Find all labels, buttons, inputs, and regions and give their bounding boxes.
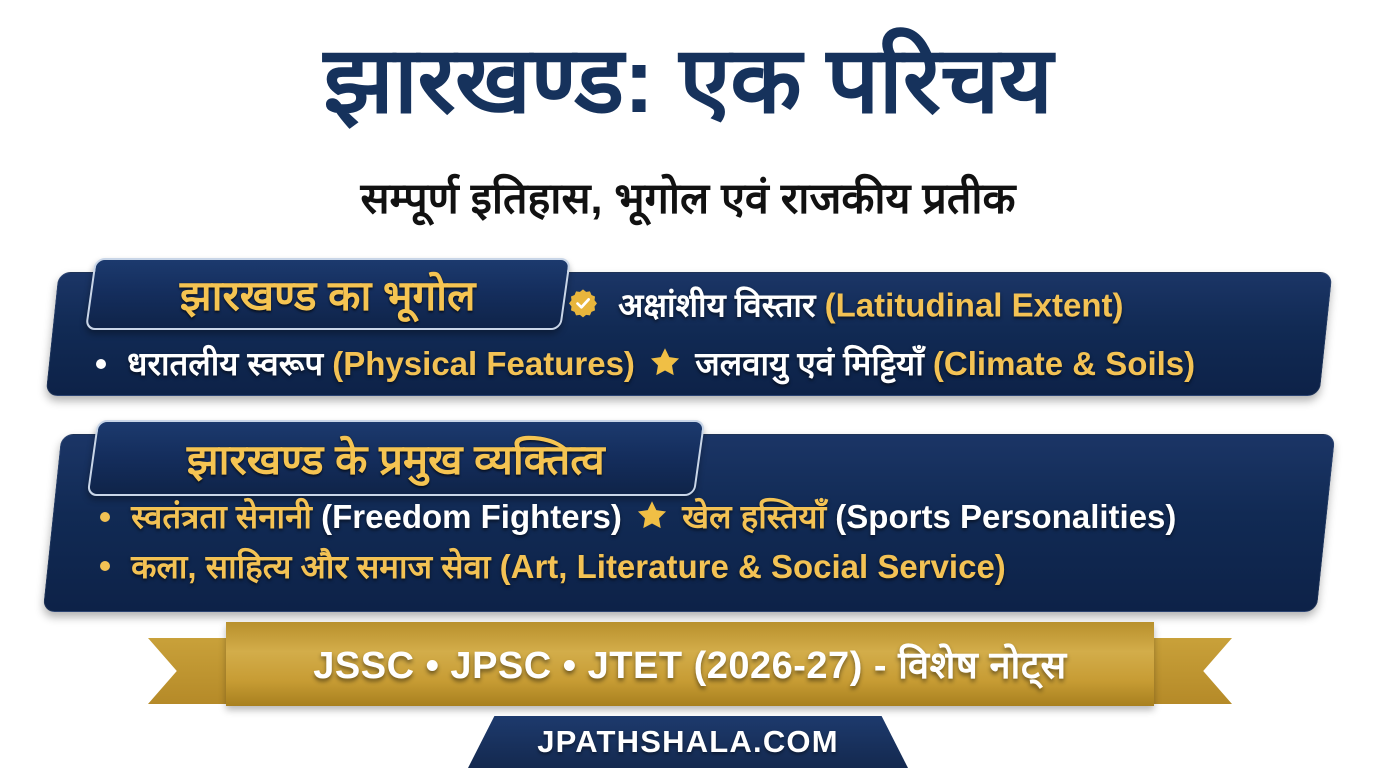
star-icon — [637, 500, 667, 534]
geography-row-2b-english: (Climate & Soils) — [933, 345, 1195, 382]
bullet-dot-icon — [96, 359, 106, 369]
geography-row-1: अक्षांशीय विस्तार (Latitudinal Extent) — [568, 288, 1123, 328]
personalities-row-1: स्वतंत्रता सेनानी (Freedom Fighters) खेल… — [100, 500, 1176, 539]
section-heading-personalities: झारखण्ड के प्रमुख व्यक्तित्व — [87, 420, 706, 496]
check-badge-icon — [568, 288, 598, 323]
geography-row-2b-hindi: जलवायु एवं मिट्टियाँ — [695, 345, 923, 382]
geography-row-2a-hindi: धरातलीय स्वरूप — [127, 345, 323, 382]
personalities-row-2-english: (Art, Literature & Social Service) — [500, 548, 1006, 585]
section-heading-geography: झारखण्ड का भूगोल — [85, 258, 571, 330]
personalities-row-2-hindi: कला, साहित्य और समाज सेवा — [131, 548, 490, 585]
bullet-dot-icon — [100, 561, 110, 571]
exam-ribbon: JSSC • JPSC • JTET (2026-27) - विशेष नोट… — [148, 622, 1232, 710]
page-title: झारखण्ड: एक परिचय — [0, 34, 1376, 127]
geography-row-2a-english: (Physical Features) — [332, 345, 635, 382]
poster-canvas: झारखण्ड: एक परिचय सम्पूर्ण इतिहास, भूगोल… — [0, 0, 1376, 768]
personalities-row-1b-hindi: खेल हस्तियाँ — [682, 498, 826, 535]
geography-row-2: धरातलीय स्वरूप (Physical Features) जलवाय… — [96, 347, 1195, 386]
personalities-row-1b-english: (Sports Personalities) — [835, 498, 1176, 535]
section-heading-geography-label: झारखण्ड का भूगोल — [180, 266, 476, 323]
bullet-dot-icon — [100, 512, 110, 522]
geography-row-1-hindi: अक्षांशीय विस्तार — [618, 287, 815, 324]
personalities-row-2: कला, साहित्य और समाज सेवा (Art, Literatu… — [100, 550, 1006, 583]
geography-row-1-english: (Latitudinal Extent) — [825, 287, 1124, 324]
website-tab-label: JPATHSHALA.COM — [537, 724, 839, 760]
ribbon-band: JSSC • JPSC • JTET (2026-27) - विशेष नोट… — [226, 622, 1154, 706]
section-heading-personalities-label: झारखण्ड के प्रमुख व्यक्तित्व — [187, 430, 605, 487]
personalities-row-1a-english: (Freedom Fighters) — [321, 498, 622, 535]
page-subtitle: सम्पूर्ण इतिहास, भूगोल एवं राजकीय प्रतीक — [0, 178, 1376, 221]
website-tab[interactable]: JPATHSHALA.COM — [468, 716, 908, 768]
ribbon-label: JSSC • JPSC • JTET (2026-27) - विशेष नोट… — [313, 638, 1066, 690]
personalities-row-1a-hindi: स्वतंत्रता सेनानी — [131, 498, 312, 535]
star-icon — [650, 347, 680, 381]
